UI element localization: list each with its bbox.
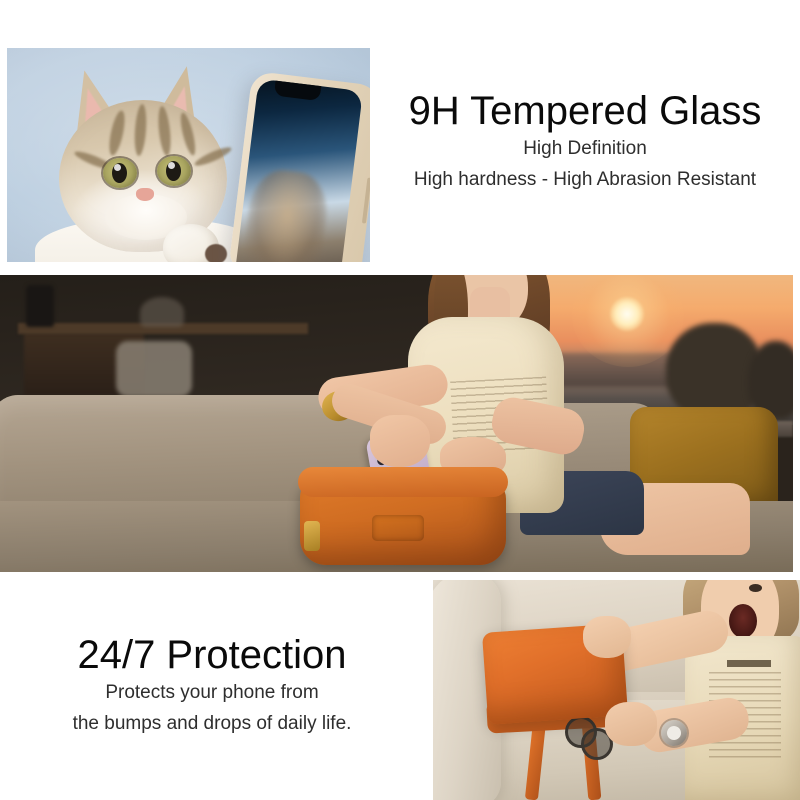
handbag-label [372,515,424,541]
open-mouth-shocked [729,604,757,638]
phone-screen [235,79,363,262]
tempered-glass-headline: 9H Tempered Glass [380,88,790,134]
cat-with-phone-photo [7,48,370,262]
handbag-top-edge [298,467,508,497]
throw-pillow [116,341,192,397]
cat-right-eye [157,156,191,186]
tempered-glass-subline-2: High hardness - High Abrasion Resistant [380,165,790,196]
vase [26,285,54,327]
protection-subline-2: the bumps and drops of daily life. [22,709,402,740]
protection-subline-1: Protects your phone from [22,678,402,709]
cat-eye-glint [168,162,175,169]
cat-eye-glint [114,164,121,171]
woman-left-hand [583,616,631,658]
cat-left-eye [103,158,137,188]
protection-text-block: 24/7 Protection Protects your phone from… [22,632,402,740]
handbag-zipper-pull [304,521,320,551]
tempered-glass-subline-1: High Definition [380,134,790,165]
woman-eye [749,584,762,592]
protection-headline: 24/7 Protection [22,632,402,678]
woman-left-hand [370,415,430,467]
sun-icon [610,297,644,331]
phone-with-screen-protector [228,71,370,262]
woman-shocked-with-tote-photo [433,580,800,800]
tempered-glass-text-block: 9H Tempered Glass High Definition High h… [380,88,790,196]
cat-toe-pad [205,244,227,262]
woman-putting-phone-in-bag-photo [0,275,793,572]
woman-right-hand [605,702,657,746]
cat-nose [136,188,154,201]
cat-reflection-on-screen [241,167,332,262]
watch-face [666,725,682,741]
tank-top-logo [727,660,771,667]
lamp [140,297,184,327]
